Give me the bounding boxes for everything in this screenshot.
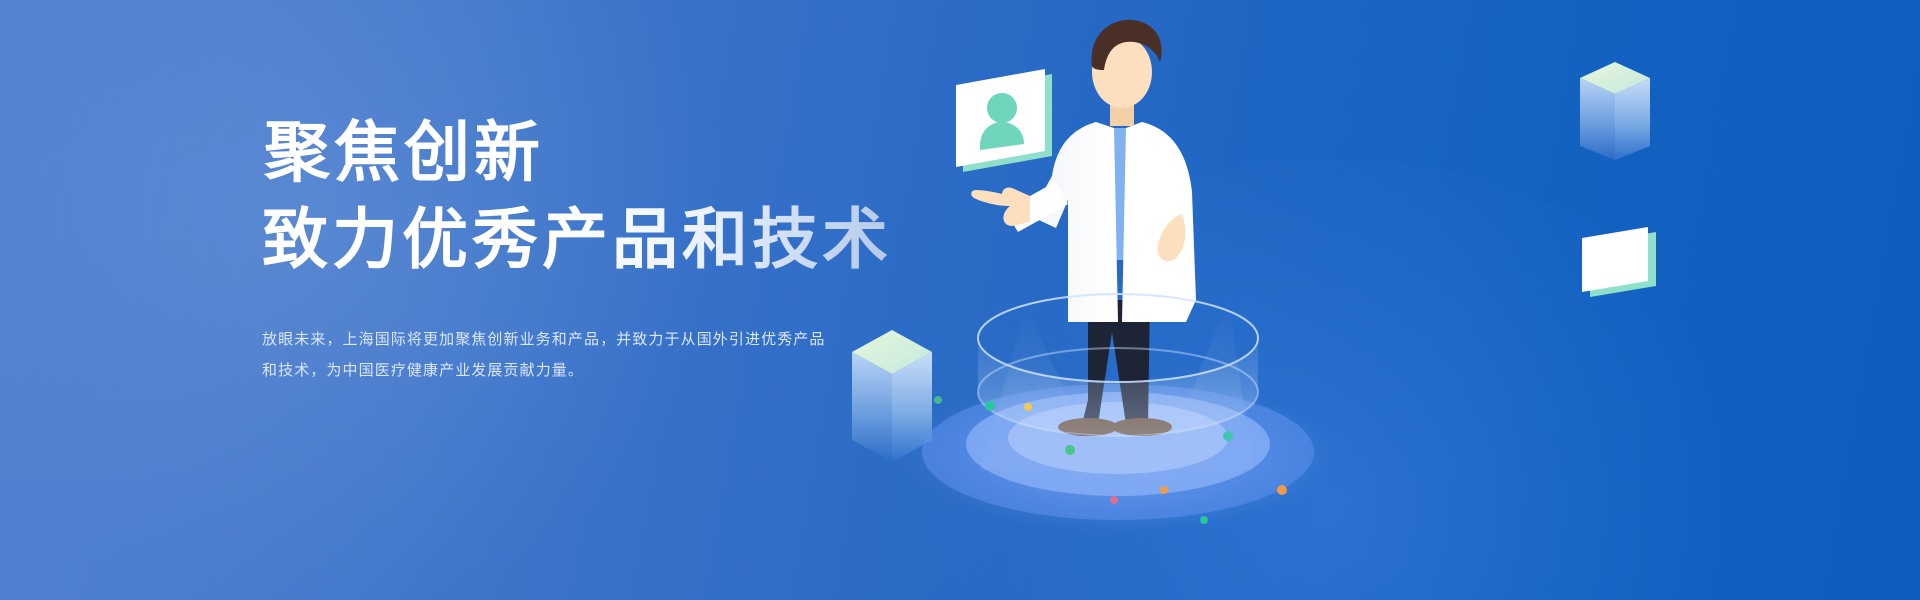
hero-banner: 聚焦创新 致力优秀产品和技术 放眼未来，上海国际将更加聚焦创新业务和产品，并致力… — [0, 0, 1920, 600]
bar-right-icon — [1580, 62, 1650, 160]
subtitle-line-2: 和技术，为中国医疗健康产业发展贡献力量。 — [262, 356, 862, 387]
hero-subtitle: 放眼未来，上海国际将更加聚焦创新业务和产品，并致力于从国外引进优秀产品 和技术，… — [262, 325, 862, 387]
subtitle-line-1: 放眼未来，上海国际将更加聚焦创新业务和产品，并致力于从国外引进优秀产品 — [262, 325, 862, 356]
hero-illustration — [830, 0, 1920, 600]
user-profile-card-icon — [956, 69, 1052, 172]
blank-card-icon — [1582, 227, 1656, 297]
